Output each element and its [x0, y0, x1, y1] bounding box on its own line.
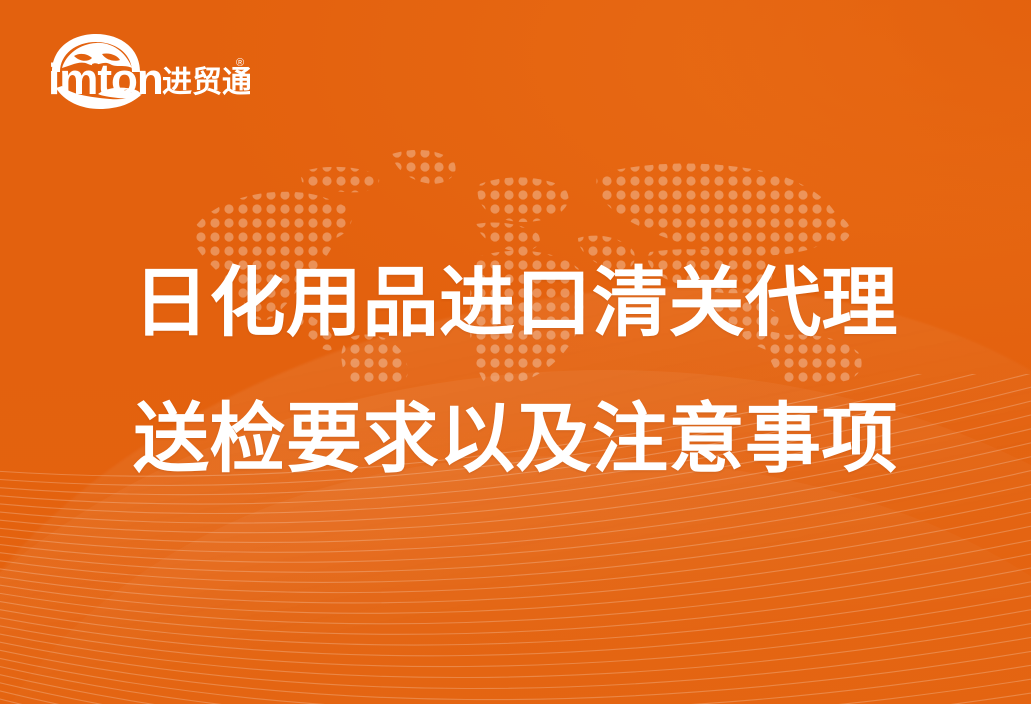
- page-title: 日化用品进口清关代理 送检要求以及注意事项: [0, 243, 1031, 501]
- registered-trademark-icon: ®: [236, 57, 244, 69]
- headline-line-2: 送检要求以及注意事项: [0, 379, 1031, 501]
- logo-chinese-name: 进贸通: [162, 66, 250, 99]
- headline-line-1: 日化用品进口清关代理: [0, 243, 1031, 365]
- promo-banner: imton 进贸通 ® 日化用品进口清关代理 送检要求以及注意事项: [0, 0, 1031, 704]
- brand-logo[interactable]: imton 进贸通 ®: [40, 28, 250, 110]
- logo-wordmark: imton: [48, 55, 163, 104]
